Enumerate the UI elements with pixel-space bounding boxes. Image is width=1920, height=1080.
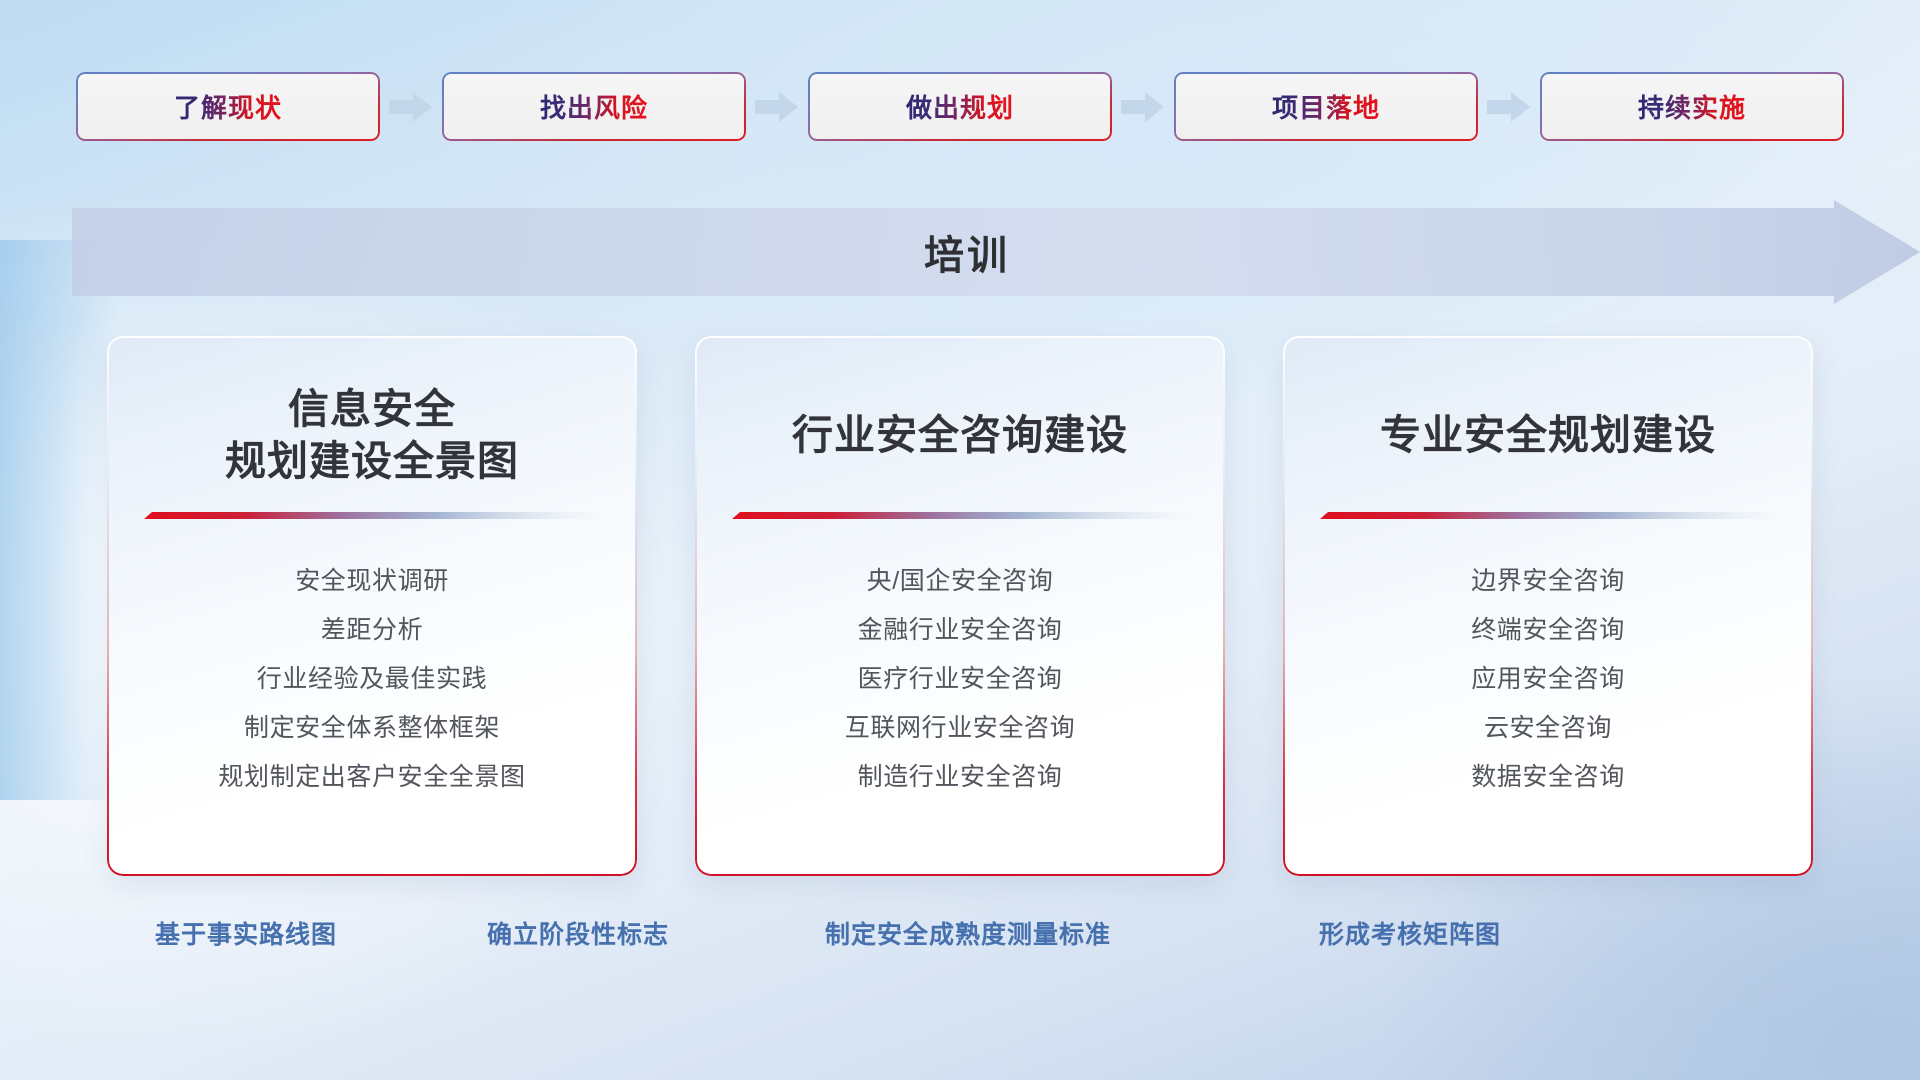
list-item: 医疗行业安全咨询 <box>721 655 1199 704</box>
list-item: 行业经验及最佳实践 <box>133 655 611 704</box>
footer-tag-1: 基于事实路线图 <box>155 915 337 951</box>
list-item: 边界安全咨询 <box>1309 557 1787 606</box>
step-box-3[interactable]: 做出规划 <box>808 72 1112 141</box>
step-box-1[interactable]: 了解现状 <box>76 72 380 141</box>
card-item-list: 央/国企安全咨询 金融行业安全咨询 医疗行业安全咨询 互联网行业安全咨询 制造行… <box>721 557 1199 802</box>
training-banner: 培训 <box>72 200 1920 304</box>
slide-canvas: 了解现状 找出风险 做出规划 项目落地 <box>0 0 1920 1080</box>
list-item: 云安全咨询 <box>1309 704 1787 753</box>
card-row: 信息安全 规划建设全景图 <box>0 336 1920 876</box>
step-box-5[interactable]: 持续实施 <box>1540 72 1844 141</box>
card-title: 专业安全规划建设 <box>1380 382 1716 488</box>
step-label: 做出规划 <box>906 88 1014 125</box>
step-box-2[interactable]: 找出风险 <box>442 72 746 141</box>
card-title: 行业安全咨询建设 <box>792 382 1128 488</box>
list-item: 金融行业安全咨询 <box>721 606 1199 655</box>
list-item: 规划制定出客户安全全景图 <box>133 753 611 802</box>
step-box-4[interactable]: 项目落地 <box>1174 72 1478 141</box>
list-item: 央/国企安全咨询 <box>721 557 1199 606</box>
list-item: 数据安全咨询 <box>1309 753 1787 802</box>
list-item: 差距分析 <box>133 606 611 655</box>
step-label: 了解现状 <box>174 88 282 125</box>
step-label: 找出风险 <box>540 88 648 125</box>
card-information-security-blueprint[interactable]: 信息安全 规划建设全景图 <box>107 336 637 876</box>
footer-tag-3: 制定安全成熟度测量标准 <box>825 915 1111 951</box>
list-item: 安全现状调研 <box>133 557 611 606</box>
card-item-list: 边界安全咨询 终端安全咨询 应用安全咨询 云安全咨询 数据安全咨询 <box>1309 557 1787 802</box>
card-professional-security-planning[interactable]: 专业安全规划建设 <box>1283 336 1813 876</box>
gradient-divider-icon <box>1320 512 1776 523</box>
footer-tag-row: 基于事实路线图 确立阶段性标志 制定安全成熟度测量标准 形成考核矩阵图 <box>0 915 1920 959</box>
footer-tag-4: 形成考核矩阵图 <box>1319 915 1501 951</box>
step-label: 持续实施 <box>1638 88 1746 125</box>
list-item: 互联网行业安全咨询 <box>721 704 1199 753</box>
list-item: 终端安全咨询 <box>1309 606 1787 655</box>
list-item: 制定安全体系整体框架 <box>133 704 611 753</box>
gradient-divider-icon <box>144 512 600 523</box>
arrow-right-icon <box>1487 90 1531 124</box>
gradient-divider-icon <box>732 512 1188 523</box>
process-step-row: 了解现状 找出风险 做出规划 项目落地 <box>0 72 1920 141</box>
footer-tag-2: 确立阶段性标志 <box>487 915 669 951</box>
arrow-right-icon <box>1121 90 1165 124</box>
step-label: 项目落地 <box>1272 88 1380 125</box>
list-item: 制造行业安全咨询 <box>721 753 1199 802</box>
card-title: 信息安全 规划建设全景图 <box>225 382 519 488</box>
card-item-list: 安全现状调研 差距分析 行业经验及最佳实践 制定安全体系整体框架 规划制定出客户… <box>133 557 611 802</box>
list-item: 应用安全咨询 <box>1309 655 1787 704</box>
arrow-right-icon <box>755 90 799 124</box>
card-industry-security-consulting[interactable]: 行业安全咨询建设 <box>695 336 1225 876</box>
banner-title: 培训 <box>72 200 1862 304</box>
arrow-right-icon <box>389 90 433 124</box>
